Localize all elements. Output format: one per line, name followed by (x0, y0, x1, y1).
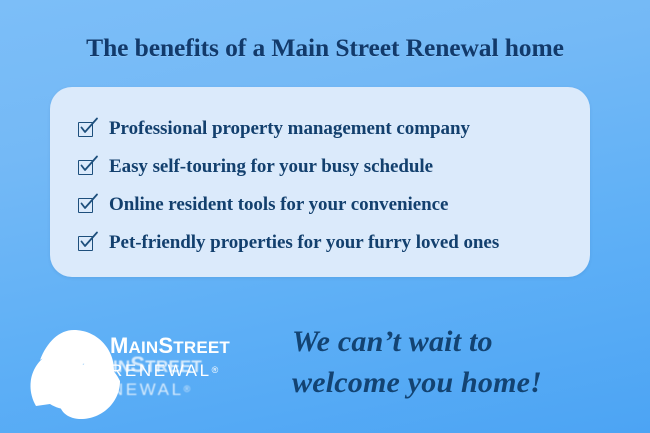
checked-box-icon (78, 198, 93, 213)
page-title: The benefits of a Main Street Renewal ho… (0, 33, 650, 63)
checked-box-icon (78, 160, 93, 175)
checked-box-icon (78, 122, 93, 137)
checked-box-icon (78, 236, 93, 251)
benefits-card: Professional property management company… (50, 87, 590, 277)
list-item-label: Online resident tools for your convenien… (109, 194, 448, 216)
tagline: We can’t wait to welcome you home! (292, 321, 622, 403)
brand-wordmark: MAINSTREET RENEWAL® (110, 335, 290, 379)
promo-poster: The benefits of a Main Street Renewal ho… (0, 0, 650, 433)
brand-wordmark-line2: RENEWAL® (110, 362, 290, 379)
list-item-label: Easy self-touring for your busy schedule (109, 156, 433, 178)
brand-wordmark-line2: RENEWAL® (82, 381, 282, 398)
list-item: Online resident tools for your convenien… (78, 193, 448, 217)
tagline-line-1: We can’t wait to (292, 321, 622, 362)
list-item: Pet-friendly properties for your furry l… (78, 231, 499, 255)
tagline-line-2: welcome you home! (292, 362, 622, 403)
list-item-label: Pet-friendly properties for your furry l… (109, 232, 499, 254)
list-item-label: Professional property management company (109, 118, 470, 140)
brand-logo: MAINSTREET RENEWAL® MAINSTREET RENEWAL® (22, 318, 290, 428)
list-item: Professional property management company (78, 117, 470, 141)
list-item: Easy self-touring for your busy schedule (78, 155, 433, 179)
brand-wordmark-line1: MAINSTREET (110, 335, 290, 357)
